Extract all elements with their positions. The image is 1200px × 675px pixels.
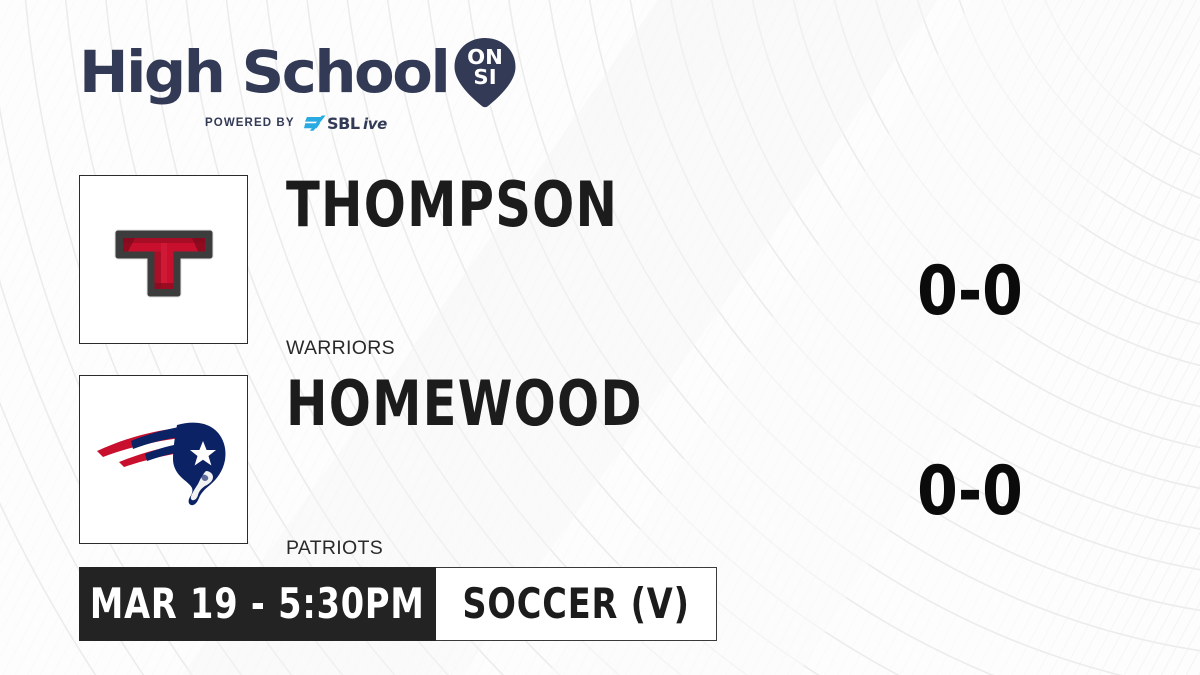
- homewood-patriots-logo: [93, 405, 235, 515]
- game-sport-text: SOCCER (V): [462, 583, 689, 625]
- game-datetime-text: MAR 19 - 5:30PM: [90, 583, 425, 625]
- brand-wordmark: High School: [79, 43, 448, 101]
- svg-text:SI: SI: [473, 66, 496, 89]
- svg-text:ive: ive: [363, 115, 387, 133]
- game-datetime-block: MAR 19 - 5:30PM: [79, 567, 436, 641]
- scoreboard-graphic: High School ON SI POWERED BY SBL ive: [0, 0, 1200, 675]
- away-team-score: 0-0: [893, 458, 1048, 526]
- powered-by-row: POWERED BY SBL ive: [205, 113, 517, 133]
- powered-by-label: POWERED BY: [205, 117, 295, 129]
- home-team-score: 0-0: [893, 258, 1048, 326]
- away-team-mascot: PATRIOTS: [286, 537, 383, 560]
- thompson-warriors-logo: [104, 200, 224, 320]
- away-team-name: HOMEWOOD: [286, 373, 643, 435]
- brand-logo-block: High School ON SI POWERED BY SBL ive: [79, 36, 517, 133]
- home-team-mascot: WARRIORS: [286, 337, 395, 360]
- home-team-logo-box: [79, 175, 248, 344]
- home-team-name: THOMPSON: [286, 174, 618, 236]
- away-team-logo-box: [79, 375, 248, 544]
- game-sport-block: SOCCER (V): [436, 567, 717, 641]
- on-si-pin-icon: ON SI: [453, 36, 517, 108]
- svg-text:SBL: SBL: [327, 114, 360, 133]
- sblive-logo: SBL ive: [304, 113, 402, 133]
- game-info-banner: MAR 19 - 5:30PM SOCCER (V): [79, 567, 717, 641]
